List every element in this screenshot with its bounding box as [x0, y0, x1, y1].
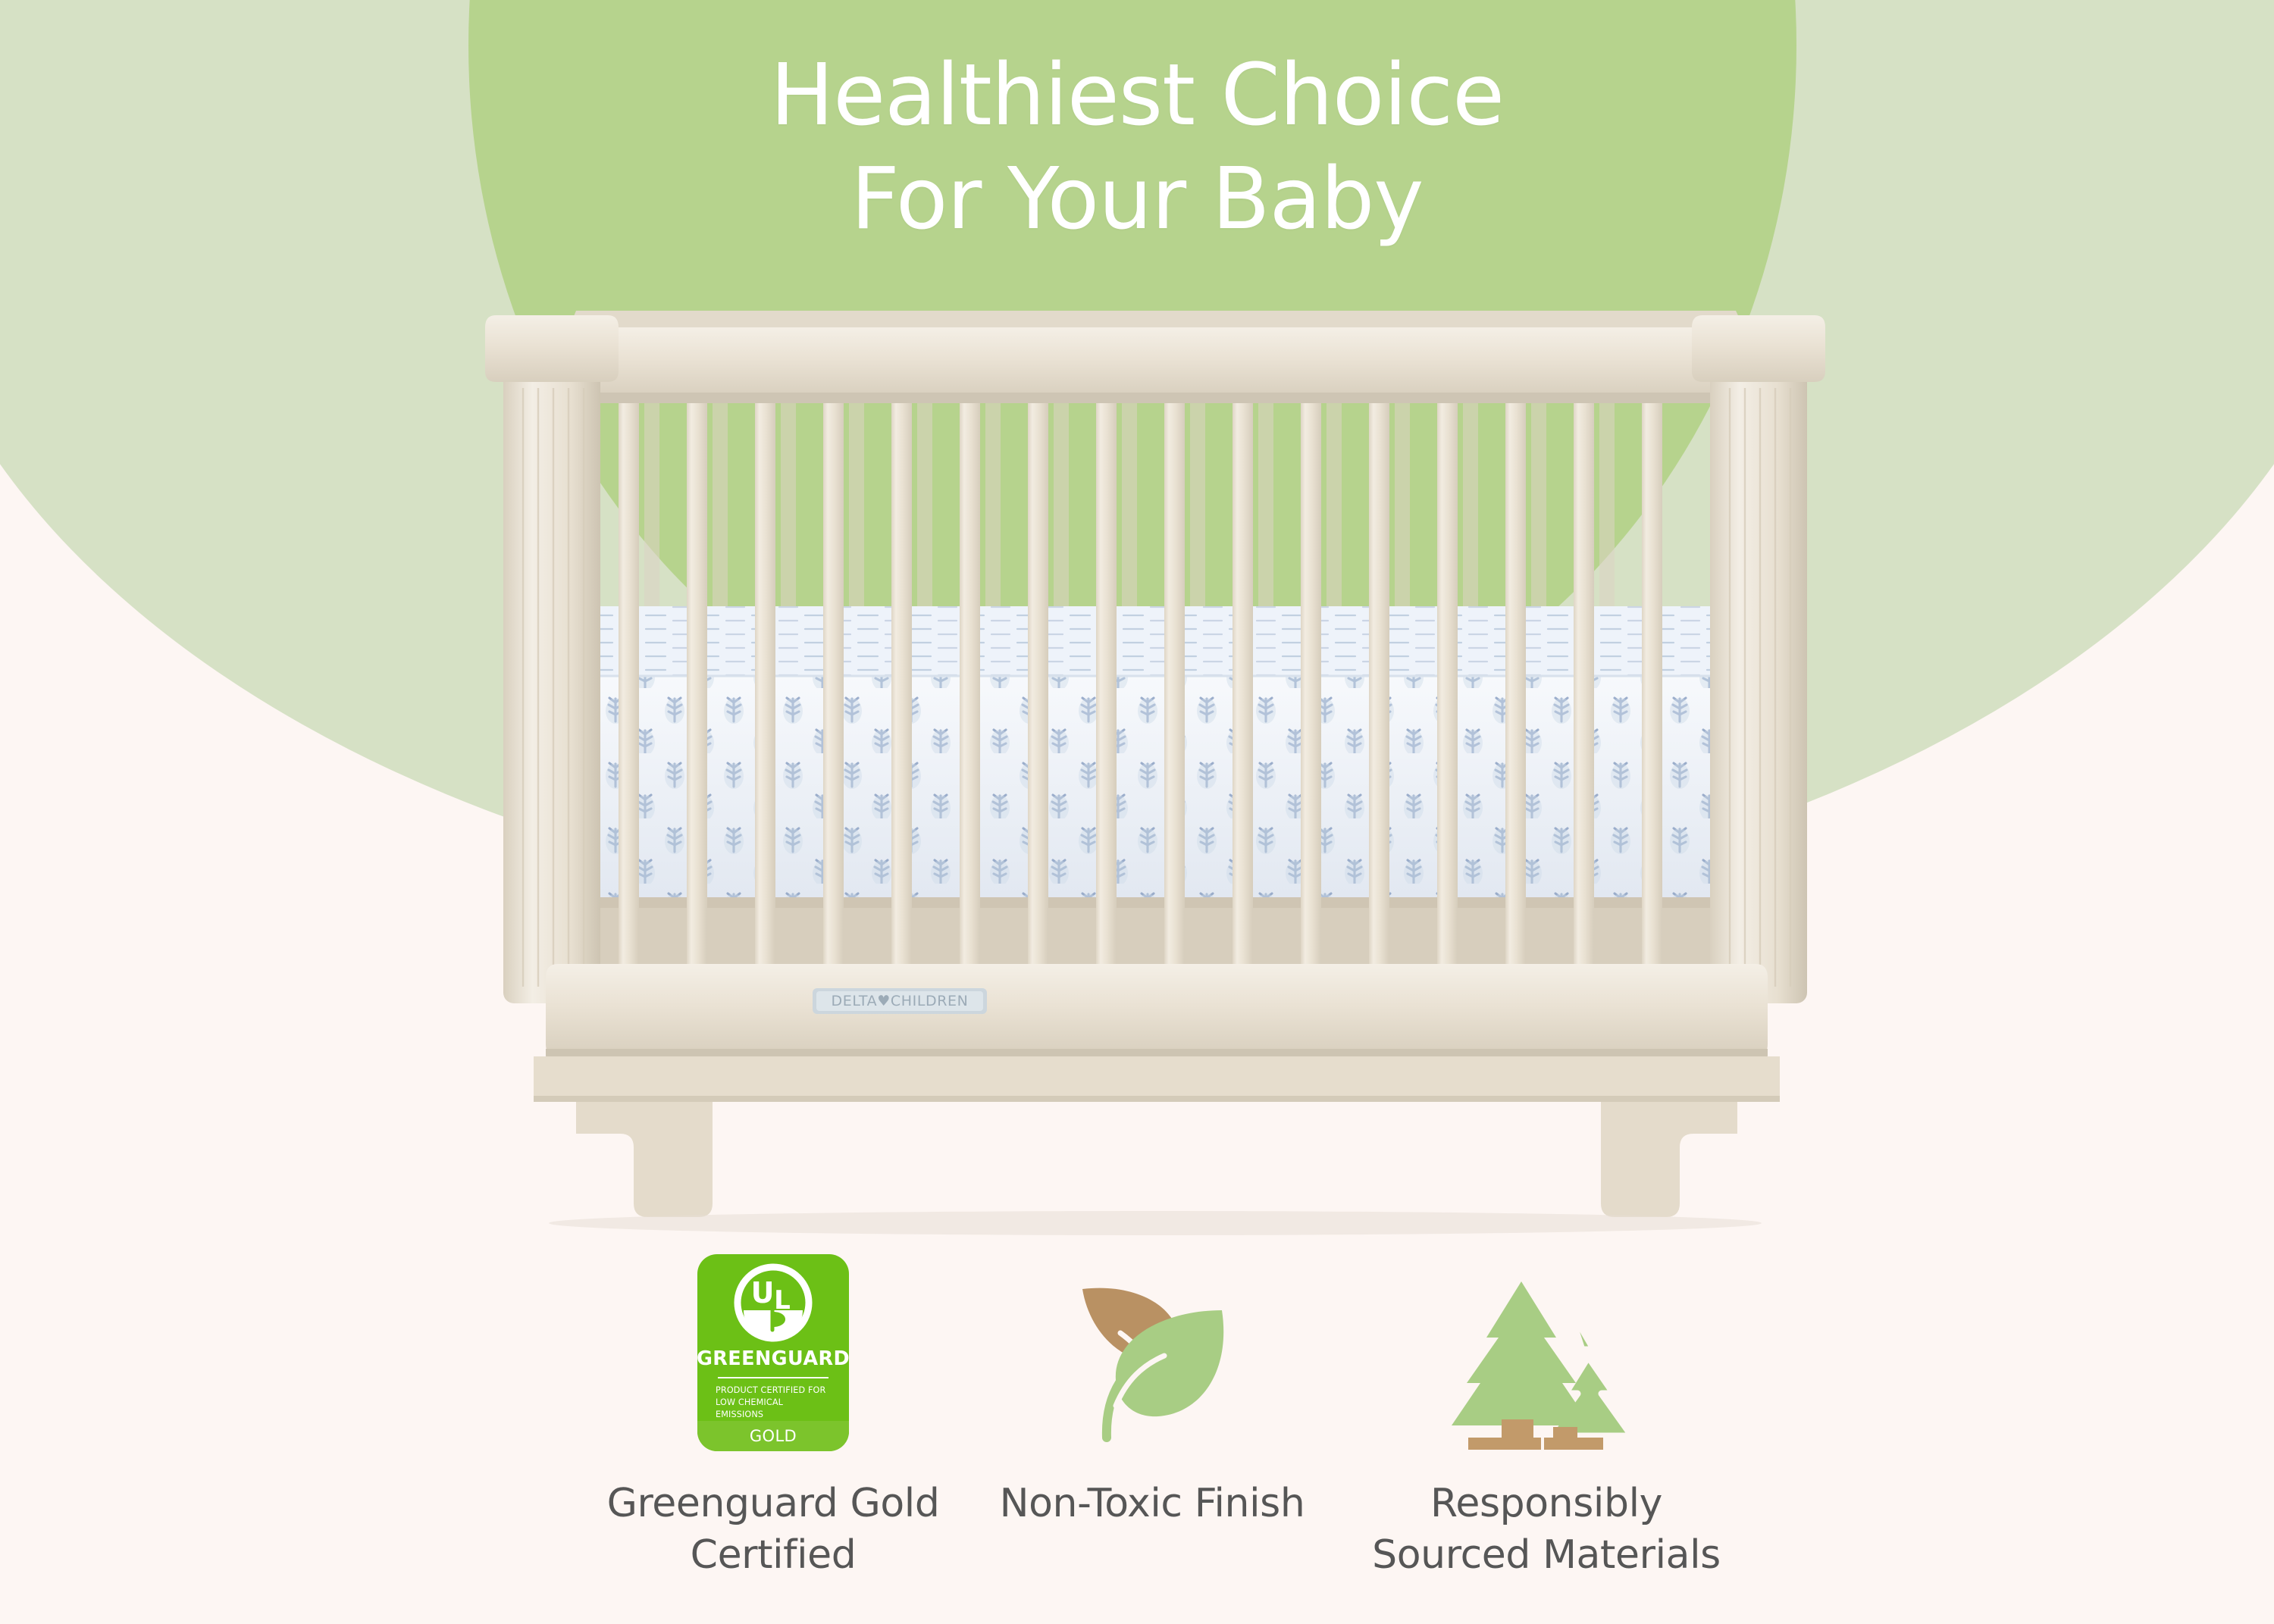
crib-product-image: DELTA♥CHILDREN [485, 297, 1825, 1229]
feature-responsibly-sourced: Responsibly Sourced Materials [1349, 1231, 1743, 1581]
headline-line-1: Healthiest Choice [770, 46, 1504, 145]
svg-text:L: L [774, 1285, 791, 1316]
feature-label-non-toxic: Non-Toxic Finish [1000, 1478, 1305, 1530]
leaf-icon [1061, 1231, 1243, 1451]
feature-label-greenguard: Greenguard Gold Certified [607, 1478, 940, 1581]
greenguard-gold-badge-icon: U L GREENGUARD PRODUCT CERTIFIED FOR LOW… [697, 1231, 849, 1451]
trees-icon [1452, 1231, 1641, 1451]
badge-divider [718, 1377, 828, 1378]
svg-text:U: U [751, 1276, 775, 1310]
greenguard-wordmark: GREENGUARD [697, 1347, 849, 1370]
badge-level-label: GOLD [750, 1427, 797, 1445]
headline-line-2: For Your Baby [0, 148, 2274, 252]
brand-plate: DELTA♥CHILDREN [813, 988, 987, 1014]
crib-bottom-rail: DELTA♥CHILDREN [546, 964, 1768, 1064]
headline: Healthiest Choice For Your Baby [0, 44, 2274, 251]
crib-front-top-rail [547, 327, 1766, 403]
feature-greenguard: U L GREENGUARD PRODUCT CERTIFIED FOR LOW… [576, 1231, 970, 1581]
feature-non-toxic: Non-Toxic Finish [955, 1231, 1349, 1530]
svg-text:DELTA♥CHILDREN: DELTA♥CHILDREN [832, 993, 969, 1009]
crib-left-post [485, 315, 619, 1003]
feature-row: U L GREENGUARD PRODUCT CERTIFIED FOR LOW… [0, 1231, 2274, 1581]
crib-right-post [1692, 315, 1825, 1003]
promo-banner: Healthiest Choice For Your Baby [0, 0, 2274, 1624]
feature-label-responsibly-sourced: Responsibly Sourced Materials [1372, 1478, 1721, 1581]
crib-base-and-legs [534, 1056, 1780, 1235]
ul-mark-icon: U L [734, 1263, 813, 1346]
badge-level-bar: GOLD [697, 1421, 849, 1451]
